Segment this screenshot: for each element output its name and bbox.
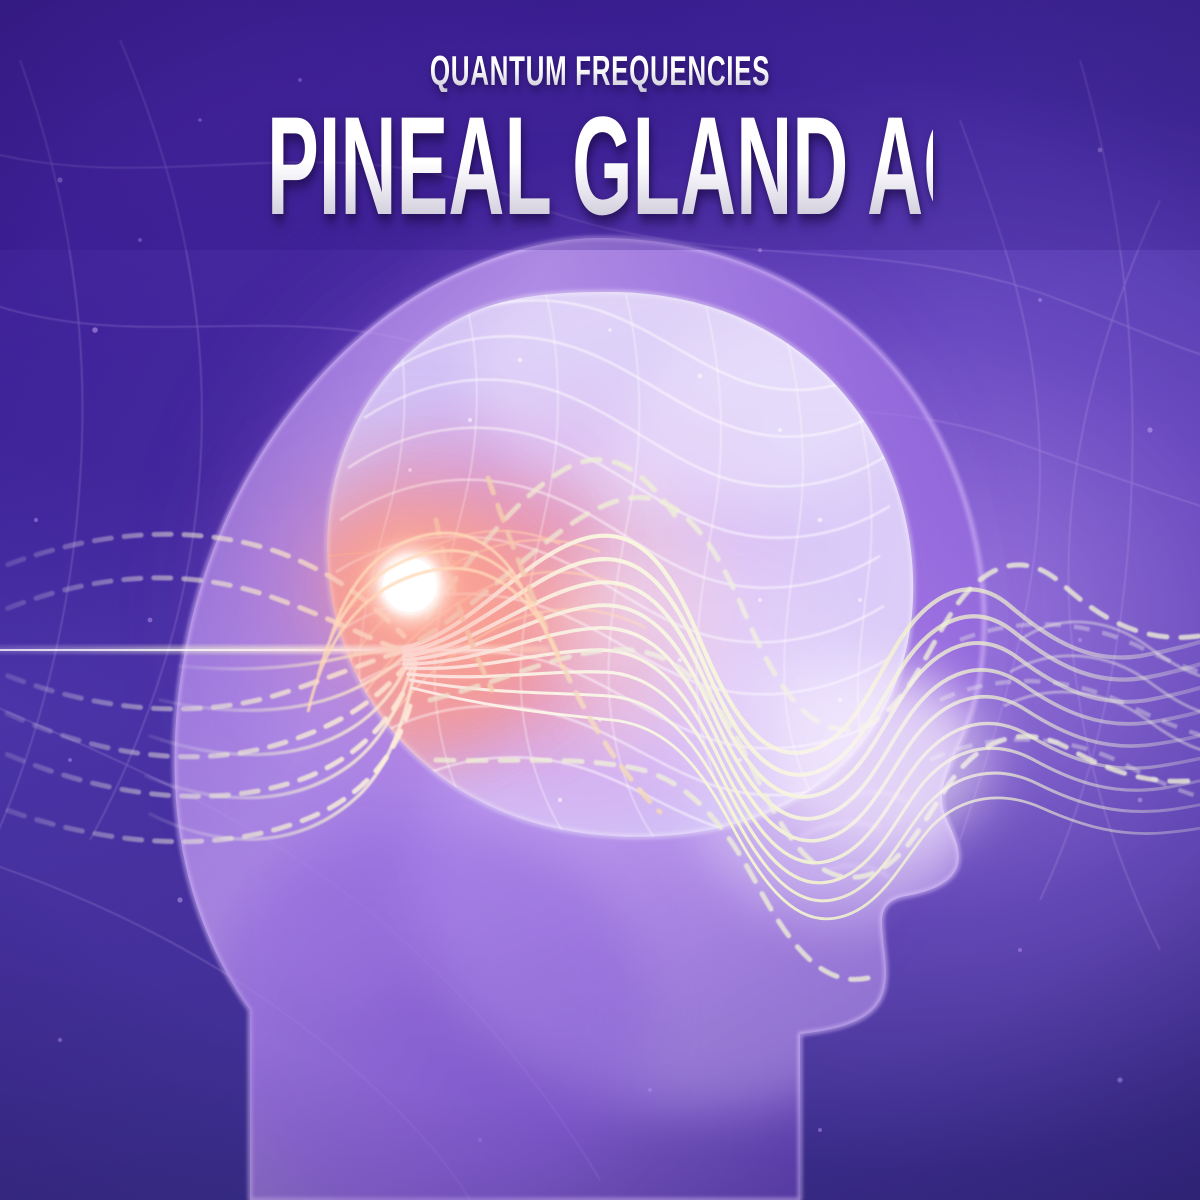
title-block: QUANTUM FREQUENCIES PINEAL GLAND ACTIVAT… xyxy=(0,0,1200,231)
page-title: PINEAL GLAND ACTIVATION xyxy=(267,102,933,231)
album-cover-canvas: QUANTUM FREQUENCIES PINEAL GLAND ACTIVAT… xyxy=(0,0,1200,1200)
kicker-text: QUANTUM FREQUENCIES xyxy=(228,50,972,92)
